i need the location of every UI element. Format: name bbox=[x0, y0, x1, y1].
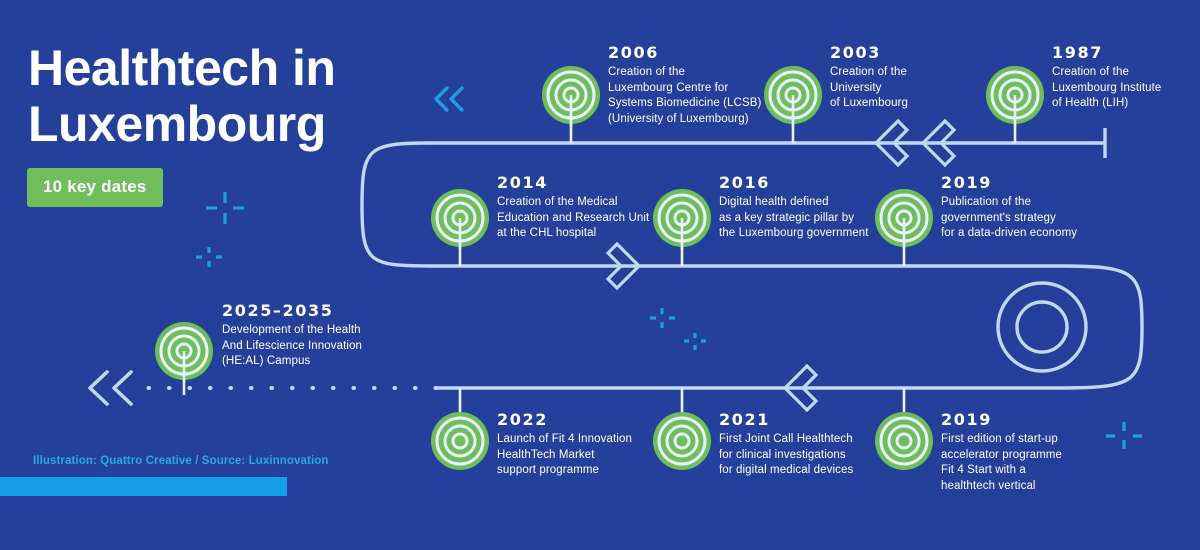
timeline-entry-2025-2035: 2025–2035 Development of the Health And … bbox=[222, 302, 362, 370]
timeline-marker-2003[interactable] bbox=[762, 64, 824, 126]
crosshair-large-left-icon bbox=[206, 192, 244, 224]
entry-description: Digital health defined as a key strategi… bbox=[719, 195, 869, 242]
timeline-entry-2016: 2016 Digital health defined as a key str… bbox=[719, 174, 869, 242]
entry-year: 2021 bbox=[719, 411, 853, 429]
infographic-canvas: Healthtech in Luxembourg 10 key dates bbox=[0, 0, 1200, 550]
entry-year: 2003 bbox=[830, 44, 908, 62]
timeline-marker-2019-strategy[interactable] bbox=[873, 187, 935, 249]
entry-year: 1987 bbox=[1052, 44, 1161, 62]
timeline-entry-2006: 2006 Creation of the Luxembourg Centre f… bbox=[608, 44, 761, 127]
page-title: Healthtech in Luxembourg bbox=[28, 40, 335, 152]
concentric-rings-right-icon bbox=[998, 283, 1086, 371]
crosshair-right-bottom-icon bbox=[1106, 422, 1142, 449]
timeline-entry-1987: 1987 Creation of the Luxembourg Institut… bbox=[1052, 44, 1161, 112]
timeline-marker-2014[interactable] bbox=[429, 187, 491, 249]
timeline-marker-2006[interactable] bbox=[540, 64, 602, 126]
timeline-entry-2021: 2021 First Joint Call Healthtech for cli… bbox=[719, 411, 853, 479]
double-chevron-left-bottom bbox=[90, 372, 131, 404]
timeline-entry-2019-fit4start: 2019 First edition of start-up accelerat… bbox=[941, 411, 1062, 494]
timeline-marker-2025-2035[interactable] bbox=[153, 320, 215, 382]
crosshair-small-left-icon bbox=[196, 247, 222, 267]
entry-year: 2016 bbox=[719, 174, 869, 192]
timeline-entry-2003: 2003 Creation of the University of Luxem… bbox=[830, 44, 908, 112]
entry-description: First edition of start-up accelerator pr… bbox=[941, 432, 1062, 494]
timeline-marker-2021[interactable] bbox=[651, 410, 713, 472]
crosshair-tiny-mid-icon bbox=[684, 333, 706, 350]
entry-description: Creation of the Luxembourg Institute of … bbox=[1052, 65, 1161, 112]
timeline-marker-2016[interactable] bbox=[651, 187, 713, 249]
timeline-entry-2014: 2014 Creation of the Medical Education a… bbox=[497, 174, 649, 242]
entry-year: 2014 bbox=[497, 174, 649, 192]
entry-year: 2025–2035 bbox=[222, 302, 362, 320]
timeline-marker-1987[interactable] bbox=[984, 64, 1046, 126]
entry-year: 2006 bbox=[608, 44, 761, 62]
entry-description: Publication of the government's strategy… bbox=[941, 195, 1077, 242]
crosshair-small-mid-icon bbox=[650, 308, 675, 328]
timeline-entry-2022: 2022 Launch of Fit 4 Innovation HealthTe… bbox=[497, 411, 632, 479]
entry-description: Launch of Fit 4 Innovation HealthTech Ma… bbox=[497, 432, 632, 479]
entry-description: Creation of the University of Luxembourg bbox=[830, 65, 908, 112]
double-chevron-left-top-icon bbox=[436, 88, 462, 110]
entry-year: 2019 bbox=[941, 174, 1077, 192]
timeline-marker-2019-fit4start[interactable] bbox=[873, 410, 935, 472]
entry-year: 2019 bbox=[941, 411, 1062, 429]
entry-year: 2022 bbox=[497, 411, 632, 429]
timeline-marker-2022[interactable] bbox=[429, 410, 491, 472]
entry-description: Creation of the Medical Education and Re… bbox=[497, 195, 649, 242]
key-dates-badge: 10 key dates bbox=[27, 168, 163, 207]
credit-line: Illustration: Quattro Creative / Source:… bbox=[33, 455, 329, 467]
footer-accent-bar bbox=[0, 477, 287, 496]
entry-description: Development of the Health And Lifescienc… bbox=[222, 323, 362, 370]
timeline-entry-2019-strategy: 2019 Publication of the government's str… bbox=[941, 174, 1077, 242]
entry-description: First Joint Call Healthtech for clinical… bbox=[719, 432, 853, 479]
entry-description: Creation of the Luxembourg Centre for Sy… bbox=[608, 65, 761, 127]
